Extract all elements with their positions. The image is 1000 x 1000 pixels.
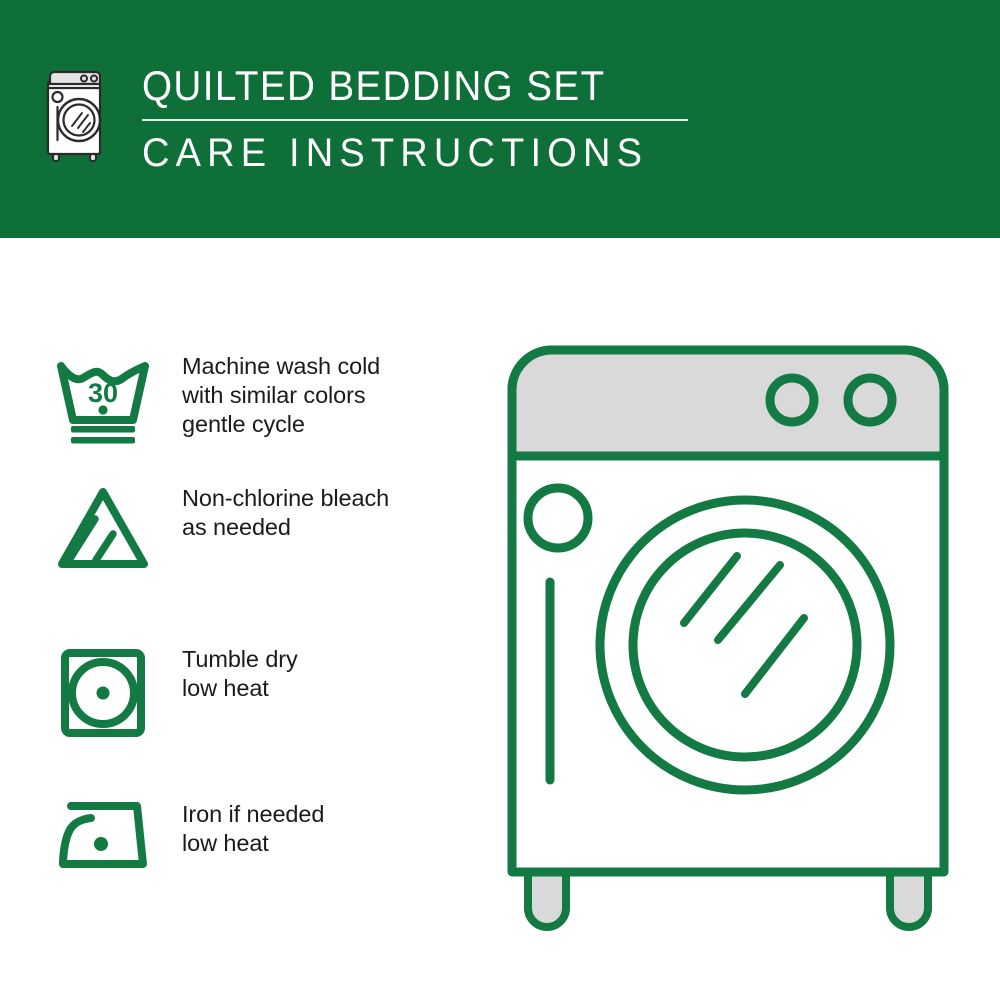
care-symbol-slot — [48, 798, 158, 874]
care-symbol-slot: 30 — [48, 350, 158, 446]
tumble-dry-low-icon — [51, 643, 155, 743]
care-symbol-slot — [48, 643, 158, 743]
front-load-washing-machine-illustration — [492, 330, 982, 950]
header-content: QUILTED BEDDING SET CARE INSTRUCTIONS — [42, 62, 688, 175]
care-item-iron: Iron if needed low heat — [48, 798, 324, 874]
page-subtitle: CARE INSTRUCTIONS — [142, 131, 661, 175]
care-item-text: Iron if needed low heat — [182, 798, 324, 858]
care-item-text: Machine wash cold with similar colors ge… — [182, 350, 380, 439]
header-banner: QUILTED BEDDING SET CARE INSTRUCTIONS — [0, 0, 1000, 238]
care-item-text: Non-chlorine bleach as needed — [182, 482, 389, 542]
non-chlorine-bleach-triangle-icon — [51, 482, 155, 574]
care-item-text: Tumble dry low heat — [182, 643, 298, 703]
header-text-block: QUILTED BEDDING SET CARE INSTRUCTIONS — [142, 62, 688, 175]
wash-temperature-label: 30 — [88, 378, 118, 408]
care-item-bleach: Non-chlorine bleach as needed — [48, 482, 389, 574]
header-divider — [142, 119, 688, 121]
care-symbol-slot — [48, 482, 158, 574]
wash-tub-30-gentle-icon: 30 — [51, 350, 155, 446]
care-item-tumble-dry: Tumble dry low heat — [48, 643, 298, 743]
care-instruction-list: 30 Machine wash cold with similar colors… — [0, 238, 500, 1000]
care-item-machine-wash: 30 Machine wash cold with similar colors… — [48, 350, 380, 446]
iron-low-heat-icon — [51, 798, 155, 874]
page-title: QUILTED BEDDING SET — [142, 62, 644, 110]
washing-machine-icon — [42, 66, 114, 166]
machine-control-panel — [512, 350, 944, 456]
